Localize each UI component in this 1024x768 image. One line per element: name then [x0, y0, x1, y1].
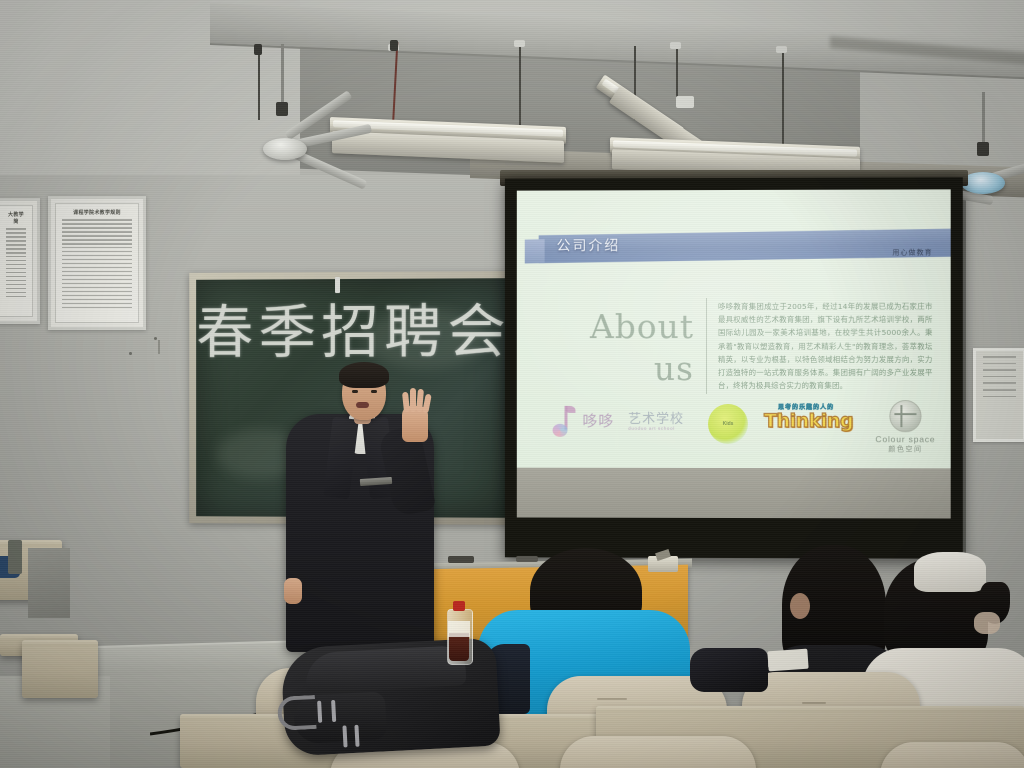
equipment-post	[8, 540, 22, 574]
presenter-finger-1	[402, 392, 410, 413]
presenter-speaker	[276, 362, 446, 652]
presentation-slide: 公司介绍 用心做教育 About us 哆哆教育集团成立于2005年，经过14年…	[517, 189, 951, 468]
screen-lower-unlit-area	[517, 468, 951, 519]
logo-duoduo-sub: duoduo art school	[628, 426, 675, 431]
poster-left-lines	[6, 228, 26, 297]
slide-divider-rule	[706, 298, 707, 394]
logo-duoduo-art-school: 哆哆 艺术学校 duoduo art school	[549, 402, 698, 448]
student-white-coat-headband	[914, 552, 986, 592]
slide-about-heading: About us	[545, 306, 694, 390]
chair-back-front-2	[560, 736, 756, 768]
poster-right-content: 课程学院术教学规则	[55, 203, 139, 323]
logo-green-circle-label: Kids	[708, 404, 748, 444]
projector-screen-canvas: 公司介绍 用心做教育 About us 哆哆教育集团成立于2005年，经过14年…	[517, 189, 951, 518]
poster-left: 大教学简	[0, 198, 40, 324]
about-line-1: About	[545, 306, 694, 348]
wire-hook-2	[390, 40, 398, 51]
equipment-panel	[28, 548, 70, 618]
presenter-hair	[339, 362, 389, 388]
music-note-icon	[553, 406, 579, 440]
bottle-cap	[453, 601, 465, 611]
student-desk-row-2-edge	[596, 706, 1024, 712]
drink-bottle	[447, 599, 471, 663]
backpack-flap	[305, 645, 467, 693]
logo-colour-space: Colour space 颜色空间	[872, 400, 938, 454]
poster-right-title: 课程学院术教学规则	[62, 209, 132, 216]
ceiling-fan-left	[205, 108, 365, 168]
presenter-finger-2	[410, 388, 416, 412]
blackboard-chalk-text: 春季招聘会	[196, 284, 508, 369]
poster-right: 课程学院术教学规则	[48, 196, 146, 330]
fan-bracket-right	[977, 142, 989, 156]
presenter-eye-left	[352, 390, 358, 393]
dark-bag-on-desk	[690, 648, 768, 692]
chair-scuff-1	[597, 698, 627, 700]
fan-motor-housing	[263, 138, 307, 160]
fan-downrod	[281, 44, 284, 110]
about-line-2: us	[545, 348, 694, 390]
slide-title: 公司介绍	[557, 235, 621, 255]
bottle-label	[448, 621, 470, 637]
presenter-eye-right	[371, 390, 377, 393]
hanger-wire-5	[782, 50, 784, 146]
ceiling-anchor-2	[514, 40, 525, 47]
side-desk	[22, 640, 98, 698]
hanger-wire-2	[519, 44, 521, 130]
poster-right-lines	[62, 219, 132, 308]
poster-left-title: 大教学简	[6, 211, 26, 225]
slide-logo-strip: 哆哆 艺术学校 duoduo art school Kids 思考的乐趣的人的 …	[543, 400, 935, 452]
note-head	[553, 424, 568, 437]
logo-thinking-wordmark: Thinking	[764, 410, 853, 432]
fan-bracket	[276, 102, 288, 116]
chair-scuff-2	[802, 702, 826, 704]
logo-duoduo-cn: 哆哆	[582, 410, 614, 431]
poster-left-content: 大教学简	[0, 205, 33, 317]
bottle-liquid	[449, 633, 469, 661]
wall-nail-2	[154, 337, 157, 340]
logo-colour-space-cn: 颜色空间	[872, 444, 938, 454]
hanger-wire-4	[676, 46, 678, 102]
ceiling-stain	[830, 36, 1024, 76]
slide-tagline: 用心做教育	[892, 248, 932, 258]
chair-back-front-3	[880, 742, 1024, 768]
projector-screen: 公司介绍 用心做教育 About us 哆哆教育集团成立于2005年，经过14年…	[505, 177, 963, 558]
globe-icon	[889, 400, 921, 432]
slide-body-text: 哆哆教育集团成立于2005年，经过14年的发展已成为石家庄市最具权威性的艺术教育…	[718, 300, 933, 393]
side-desk-edge	[22, 640, 98, 646]
presenter-mouth	[356, 402, 369, 408]
logo-colour-space-name: Colour space	[872, 434, 938, 444]
paper-sheet	[767, 649, 808, 672]
logo-thinking: 思考的乐趣的人的 Thinking	[764, 400, 868, 446]
wall-nail-1	[129, 352, 132, 355]
student-white-coat-mask	[974, 612, 1000, 634]
wire-hook	[254, 44, 262, 55]
wall-hook-wire	[158, 340, 160, 354]
right-wall-notice	[973, 348, 1024, 442]
logo-green-circle: Kids	[708, 404, 748, 444]
ceiling-anchor-3	[670, 42, 681, 49]
fixture-mount-bracket	[676, 96, 694, 108]
backpack-handle	[277, 695, 317, 731]
ceiling-anchor-4	[776, 46, 787, 53]
logo-duoduo-cn2: 艺术学校	[628, 408, 684, 427]
student-black-coat-ear-skin	[790, 593, 810, 619]
classroom-photo-scene: 大教学简 课程学院术教学规则 春季招聘会 公司介绍 用心做教育	[0, 0, 1024, 768]
presenter-finger-4	[422, 394, 432, 414]
presenter-lowered-hand	[284, 578, 302, 604]
